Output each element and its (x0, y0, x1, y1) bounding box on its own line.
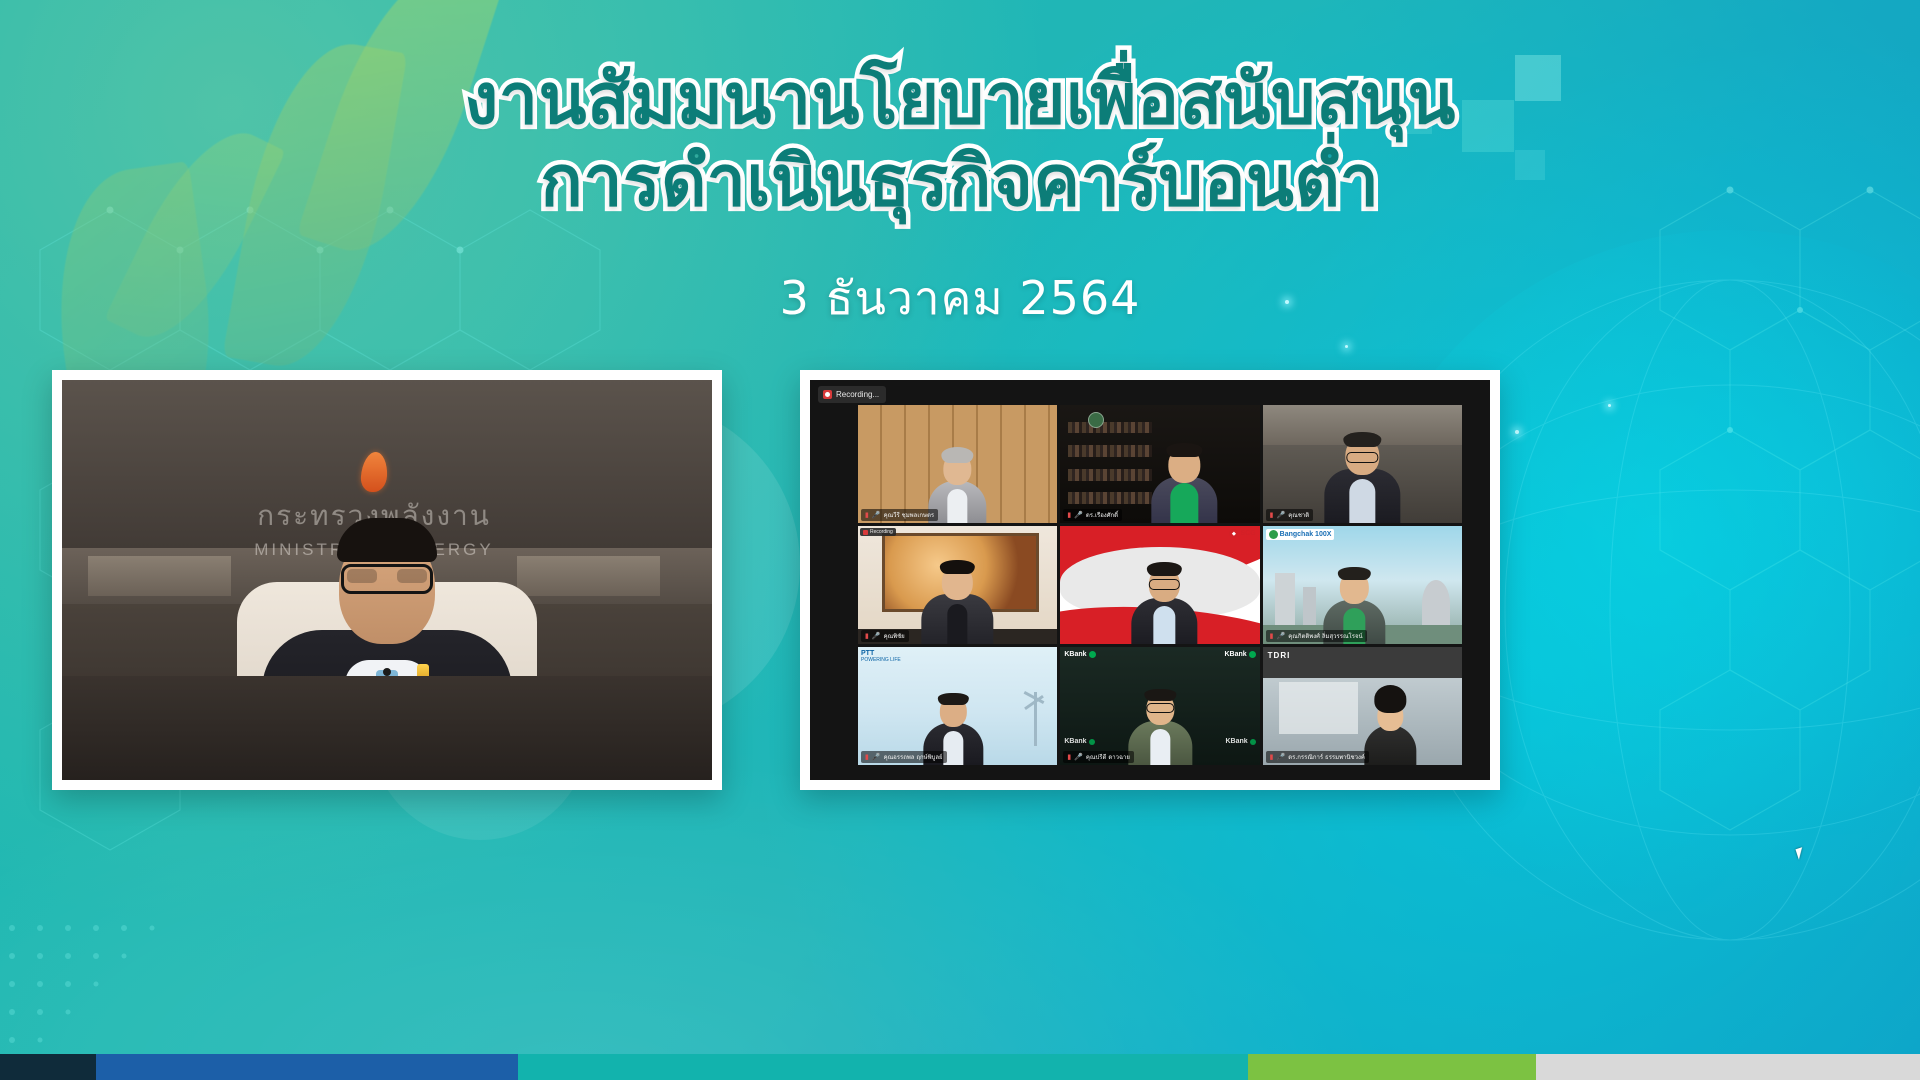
mic-muted-icon: ▮ (1270, 512, 1274, 519)
speaker-glasses (341, 564, 433, 594)
circuit-dots-decoration (0, 914, 230, 1054)
figure-collar (944, 731, 964, 765)
mic-icon: 🎤 (1074, 754, 1083, 761)
kbank-mark-icon (1089, 739, 1095, 745)
desk (62, 676, 712, 780)
participant-name: คุณอรรถพล ฤกษ์พิบูลย์ (884, 752, 943, 762)
figure-collar (1349, 479, 1375, 523)
mic-muted-icon: ▮ (1067, 512, 1071, 519)
zoom-meeting-panel: Recording... ▮ 🎤 (800, 370, 1500, 790)
scg-logo: ◆ SCG (1229, 529, 1255, 538)
figure-hair (938, 693, 969, 705)
ptt-logo-text: PTT (861, 650, 874, 657)
participant-tile[interactable]: ▮ 🎤 ดร.เรืองศักดิ์ (1060, 405, 1259, 523)
figure-glasses (1346, 452, 1378, 463)
bangchak-logo-text: Bangchak 100X (1280, 531, 1332, 538)
scg-logo-text: SCG (1240, 530, 1255, 537)
tdri-logo: TDRI (1268, 651, 1291, 660)
participant-tile[interactable]: Recording ▮ 🎤 คุณพิชัย (858, 526, 1057, 644)
ceiling (1263, 647, 1462, 678)
participant-name: ดร.กรรณิการ์ ธรรมพานิชวงค์ (1288, 752, 1365, 762)
ptt-tagline: POWERING LIFE (861, 657, 901, 663)
mic-muted-icon: ▮ (1270, 633, 1274, 640)
participant-name: คุณปรีดี ดาวฉาย (1086, 752, 1130, 762)
kbank-logo: KBank (1225, 738, 1255, 745)
figure-collar (1170, 483, 1198, 523)
participant-tile[interactable]: ◆ SCG (1060, 526, 1259, 644)
figure-hair (1166, 443, 1202, 457)
figure-hair (1144, 689, 1176, 701)
strip-segment-teal (518, 1054, 1248, 1080)
participant-nametag: ▮ 🎤 ดร.เรืองศักดิ์ (1063, 509, 1122, 521)
participant-nametag: ▮ 🎤 คุณอรรถพล ฤกษ์พิบูลย์ (861, 751, 947, 763)
participant-nametag: ▮ 🎤 คุณปรีดี ดาวฉาย (1063, 751, 1134, 763)
participant-nametag: ▮ 🎤 คุณกิตติพงศ์ ลิ่มสุวรรณโรจน์ (1266, 630, 1367, 642)
bangchak-mark-icon (1269, 530, 1278, 539)
kbank-mark-icon (1250, 739, 1256, 745)
kbank-mark-icon (1249, 651, 1256, 658)
participant-name: คุณกิตติพงศ์ ลิ่มสุวรรณโรจน์ (1288, 631, 1362, 641)
tile-recording-indicator: Recording (860, 528, 896, 536)
figure-body (1364, 725, 1416, 765)
slide-stage: งานสัมมนานโยบายเพื่อสนับสนุน การดำเนินธุ… (0, 0, 1920, 1080)
event-title: งานสัมมนานโยบายเพื่อสนับสนุน การดำเนินธุ… (0, 58, 1920, 222)
participant-name: คุณชาติ (1288, 510, 1309, 520)
mic-muted-icon: ▮ (1270, 754, 1274, 761)
participant-name: คุณพิชัย (884, 631, 905, 641)
mic-icon: 🎤 (1277, 754, 1286, 761)
mic-icon: 🎤 (872, 754, 881, 761)
zoom-window: Recording... ▮ 🎤 (810, 380, 1490, 780)
mic-icon: 🎤 (1277, 633, 1286, 640)
figure-collar (948, 604, 968, 644)
kbank-logo-text: KBank (1224, 651, 1246, 658)
mic-muted-icon: ▮ (1067, 754, 1071, 761)
participant-tile[interactable]: KBank KBank KBank KBank (1060, 647, 1259, 765)
lapel-mic-icon (383, 668, 391, 676)
strip-segment-dark (0, 1054, 96, 1080)
recording-badge: Recording... (818, 386, 886, 403)
speaker-hair (337, 518, 437, 562)
kbank-logo-text: KBank (1064, 651, 1086, 658)
participant-name: ดร.เรืองศักดิ์ (1086, 510, 1118, 520)
participant-nametag: ▮ 🎤 คุณชาติ (1266, 509, 1314, 521)
participant-tile[interactable]: ▮ 🎤 คุณวีรี ชุมพลเกษตร (858, 405, 1057, 523)
kbank-logo-text: KBank (1225, 738, 1247, 745)
figure-hair (940, 560, 975, 574)
figure-hair (1374, 685, 1406, 713)
kbank-logo: KBank (1064, 651, 1095, 658)
participant-tile[interactable]: Bangchak 100X ▮ 🎤 คุณกิตติพงศ์ ลิ่มสุวรร… (1263, 526, 1462, 644)
bookshelf-row (1068, 422, 1152, 434)
kbank-mark-icon (1089, 651, 1096, 658)
ptt-logo: PTT POWERING LIFE (861, 650, 901, 663)
participant-nametag: ▮ 🎤 ดร.กรรณิการ์ ธรรมพานิชวงค์ (1266, 751, 1369, 763)
sparkle (1515, 430, 1519, 434)
scg-mark-icon: ◆ (1229, 529, 1238, 538)
participant-nametag: ▮ 🎤 คุณพิชัย (861, 630, 909, 642)
title-line-1: งานสัมมนานโยบายเพื่อสนับสนุน (0, 58, 1920, 140)
mic-muted-icon: ▮ (865, 754, 869, 761)
tdri-logo-text: TDRI (1268, 651, 1291, 660)
participant-tile[interactable]: PTT POWERING LIFE ▮ 🎤 คุณอรรถพล (858, 647, 1057, 765)
figure-collar (1150, 729, 1170, 765)
bottom-color-strip (0, 1054, 1920, 1080)
title-line-2: การดำเนินธุรกิจคาร์บอนต่ำ (0, 140, 1920, 222)
recording-dot-icon (863, 530, 868, 535)
participant-grid: ▮ 🎤 คุณวีรี ชุมพลเกษตร (858, 405, 1462, 765)
flame-icon (360, 452, 389, 492)
figure-hair (1146, 562, 1181, 576)
kbank-logo: KBank (1224, 651, 1255, 658)
speaker-video-panel: กระทรวงพลังงาน MINISTRY OF ENERGY (52, 370, 722, 790)
figure-glasses (1146, 703, 1174, 713)
figure-glasses (1148, 579, 1179, 590)
sparkle (1608, 404, 1611, 407)
strip-segment-green (1248, 1054, 1536, 1080)
event-date: 3 ธันวาคม 2564 (0, 262, 1920, 335)
recording-dot-icon (823, 390, 832, 399)
mic-icon: 🎤 (872, 512, 881, 519)
tile-recording-label: Recording (870, 529, 893, 535)
mic-muted-icon: ▮ (865, 633, 869, 640)
mic-icon: 🎤 (872, 633, 881, 640)
kbank-logo: KBank (1064, 738, 1094, 745)
mic-icon: 🎤 (1277, 512, 1286, 519)
figure-hair (1343, 432, 1381, 447)
zoom-gallery-stage: Recording... ▮ 🎤 (810, 380, 1490, 780)
wall-inset (88, 556, 231, 596)
wall-inset (517, 556, 660, 596)
sparkle (1345, 345, 1348, 348)
figure-collar (948, 489, 968, 523)
speaker-video-frame: กระทรวงพลังงาน MINISTRY OF ENERGY (62, 380, 712, 780)
participant-name: คุณวีรี ชุมพลเกษตร (884, 510, 935, 520)
figure-hair (942, 447, 974, 463)
strip-segment-grey (1536, 1054, 1920, 1080)
figure-hair (1338, 567, 1371, 580)
participant-tile[interactable]: ▮ 🎤 คุณชาติ (1263, 405, 1462, 523)
recording-label: Recording... (836, 390, 879, 399)
strip-segment-blue (96, 1054, 518, 1080)
figure-collar (1153, 606, 1175, 644)
participant-tile[interactable]: TDRI ▮ 🎤 ดร.กรรณิการ์ ธรรมพานิชวงค์ (1263, 647, 1462, 765)
kbank-logo-text: KBank (1064, 738, 1086, 745)
participant-nametag: ▮ 🎤 คุณวีรี ชุมพลเกษตร (861, 509, 938, 521)
mic-icon: 🎤 (1074, 512, 1083, 519)
mic-muted-icon: ▮ (865, 512, 869, 519)
participant-figure (1064, 571, 1259, 644)
bangchak-logo: Bangchak 100X (1266, 529, 1335, 540)
